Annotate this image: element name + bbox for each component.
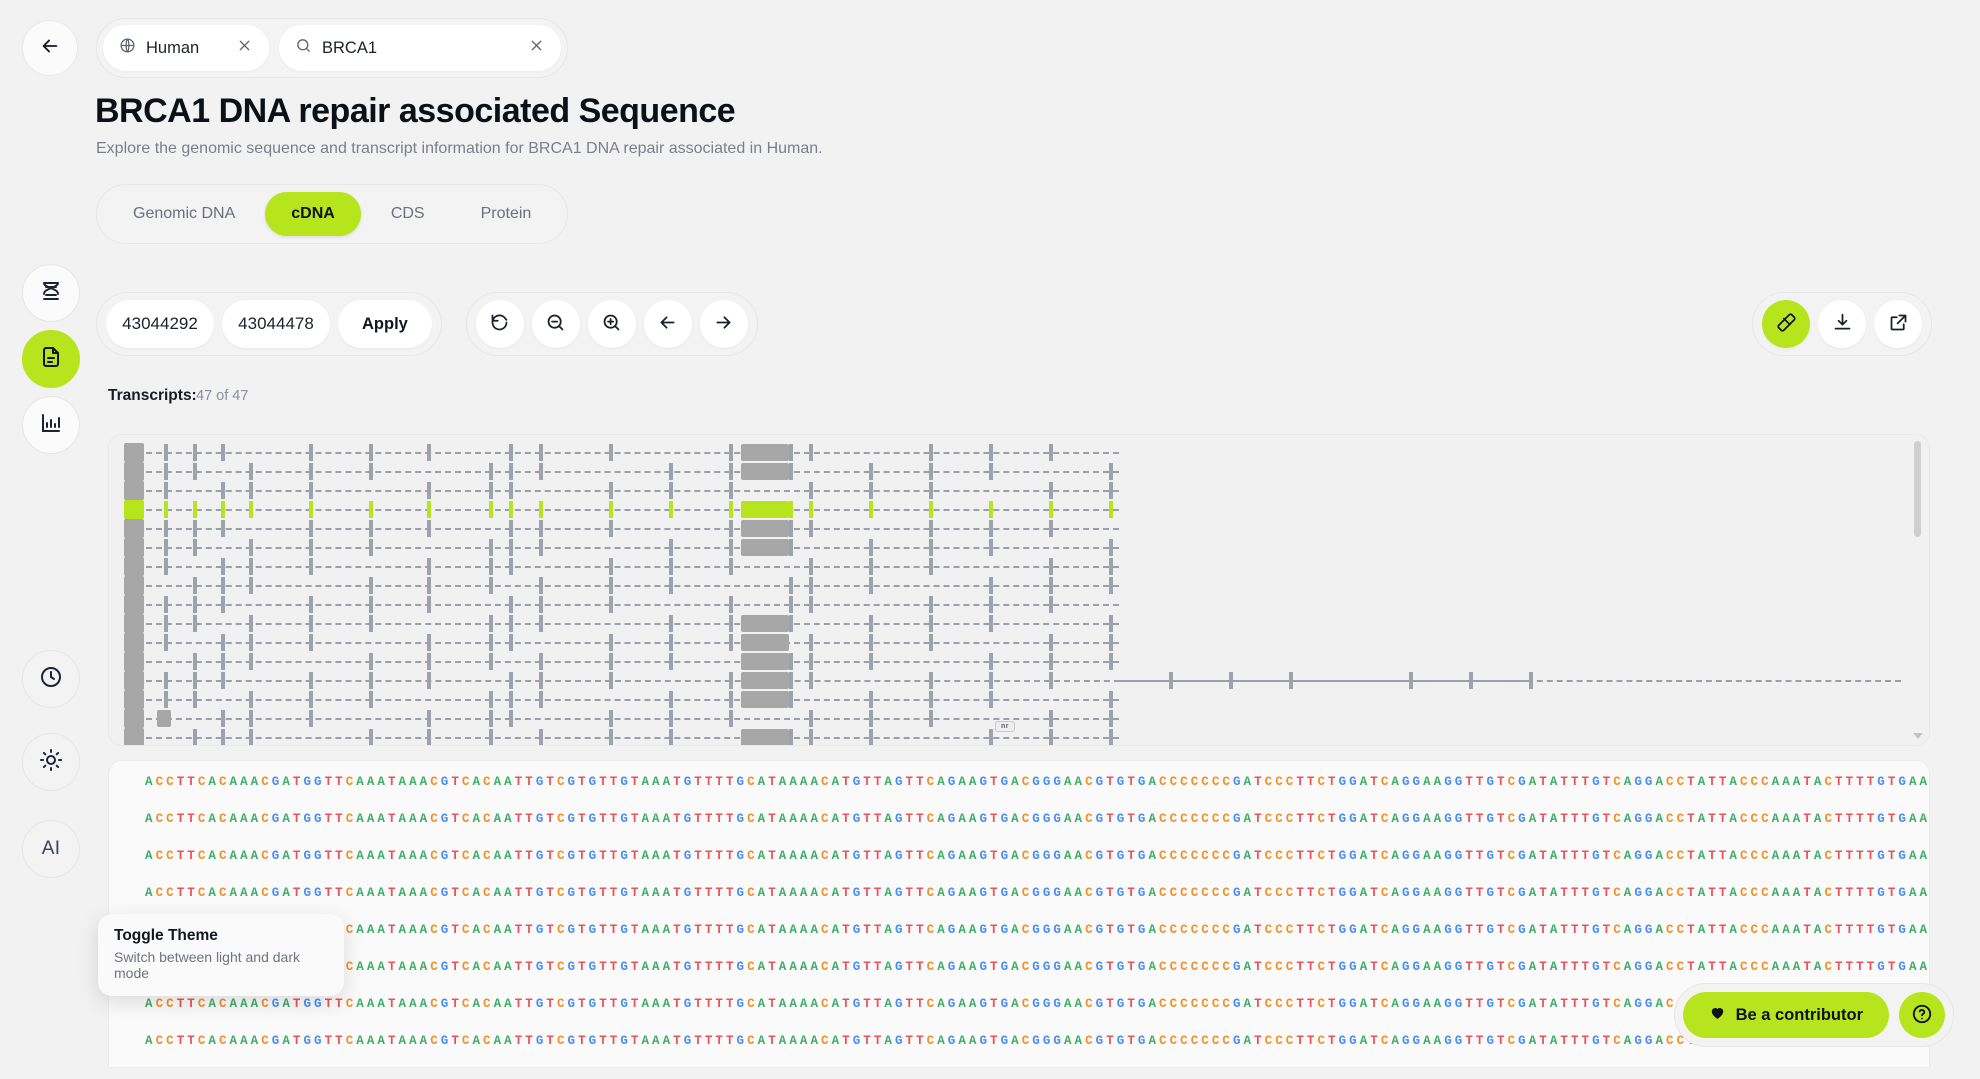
transcript-start-block xyxy=(124,443,144,462)
exon-marker xyxy=(929,444,933,461)
exon-marker xyxy=(789,672,793,689)
exon-block xyxy=(741,691,789,708)
exon-marker xyxy=(164,691,168,708)
document-icon xyxy=(39,345,63,374)
exon-marker xyxy=(164,634,168,651)
exon-marker xyxy=(609,520,613,537)
exon-marker xyxy=(489,691,493,708)
exon-marker xyxy=(609,672,613,689)
exon-marker xyxy=(789,463,793,480)
exon-marker xyxy=(427,634,431,651)
apply-button[interactable]: Apply xyxy=(338,300,432,348)
exon-marker xyxy=(489,634,493,651)
exon-marker xyxy=(669,539,673,556)
exon-marker xyxy=(221,482,225,499)
sidebar-item-history[interactable] xyxy=(22,650,80,708)
exon-marker xyxy=(509,444,513,461)
exon-marker xyxy=(369,672,373,689)
exon-marker xyxy=(369,463,373,480)
tab-protein[interactable]: Protein xyxy=(455,192,558,236)
exon-marker xyxy=(539,653,543,670)
pan-right-button[interactable] xyxy=(700,300,748,348)
page-title: BRCA1 DNA repair associated Sequence xyxy=(95,92,735,131)
exon-marker xyxy=(164,596,168,613)
transcript-start-block xyxy=(124,519,144,538)
exon-marker xyxy=(509,501,513,518)
exon-marker xyxy=(809,444,813,461)
intron-line xyxy=(146,547,1119,549)
exon-marker xyxy=(869,653,873,670)
transcript-row[interactable] xyxy=(109,462,1929,481)
exon-marker xyxy=(164,463,168,480)
exon-marker xyxy=(249,653,253,670)
exon-marker xyxy=(249,634,253,651)
exon-marker xyxy=(309,634,313,651)
exon-marker xyxy=(869,577,873,594)
exon-marker xyxy=(249,710,253,727)
intron-line xyxy=(146,699,1119,701)
species-chip[interactable]: Human xyxy=(103,25,269,71)
exon-marker xyxy=(1109,558,1113,575)
exon-marker xyxy=(869,501,873,518)
exon-marker xyxy=(249,501,253,518)
exon-marker xyxy=(869,729,873,746)
transcript-row[interactable] xyxy=(109,614,1929,633)
exon-marker xyxy=(249,615,253,632)
exon-marker xyxy=(669,634,673,651)
exon-marker xyxy=(369,691,373,708)
exon-marker xyxy=(309,539,313,556)
exon-marker xyxy=(539,672,543,689)
exon-marker xyxy=(869,634,873,651)
exon-marker xyxy=(427,596,431,613)
exon-marker xyxy=(809,501,813,518)
exon-marker xyxy=(193,653,197,670)
help-button[interactable] xyxy=(1899,992,1945,1038)
exon-marker xyxy=(669,482,673,499)
exon-marker xyxy=(427,482,431,499)
exon-marker xyxy=(164,539,168,556)
exon-marker xyxy=(1109,615,1113,632)
top-search-bar: Human BRCA1 xyxy=(22,18,568,78)
exon-marker xyxy=(249,691,253,708)
search-input-value: BRCA1 xyxy=(322,39,518,58)
exon-marker xyxy=(869,482,873,499)
exon-marker xyxy=(193,672,197,689)
intron-line xyxy=(146,585,1119,587)
ai-label: AI xyxy=(42,838,61,860)
exon-marker xyxy=(309,596,313,613)
exon-marker xyxy=(193,691,197,708)
transcript-start-block xyxy=(124,671,144,690)
exon-marker xyxy=(539,501,543,518)
zoom-in-icon xyxy=(601,312,622,336)
exon-marker xyxy=(193,615,197,632)
exon-marker xyxy=(539,596,543,613)
sequence-row: ACCTTCACAAACGATGGTTCAAATAAACGTCACAATTGTC… xyxy=(145,1034,1930,1048)
open-external-button[interactable] xyxy=(1874,300,1922,348)
transcript-start-block xyxy=(124,576,144,595)
exon-marker xyxy=(427,710,431,727)
viewer-controls: Apply xyxy=(96,292,758,356)
exon-marker xyxy=(869,710,873,727)
exon-marker xyxy=(369,539,373,556)
contributor-button[interactable]: Be a contributor xyxy=(1683,992,1889,1038)
exon-marker xyxy=(989,729,993,746)
exon-marker xyxy=(1109,710,1113,727)
exon-marker xyxy=(249,577,253,594)
exon-marker xyxy=(509,615,513,632)
gene-search-field[interactable]: BRCA1 xyxy=(279,25,561,71)
exon-marker xyxy=(489,710,493,727)
exon-marker xyxy=(509,596,513,613)
exon-marker xyxy=(1109,729,1113,746)
exon-marker xyxy=(989,653,993,670)
exon-marker xyxy=(989,577,993,594)
exon-marker xyxy=(539,444,543,461)
tab-cdna[interactable]: cDNA xyxy=(265,192,361,236)
exon-marker xyxy=(489,482,493,499)
exon-block xyxy=(741,463,789,480)
exon-marker xyxy=(489,577,493,594)
exon-marker xyxy=(249,729,253,746)
transcript-row[interactable] xyxy=(109,443,1929,462)
transcript-row[interactable] xyxy=(109,595,1929,614)
exon-marker xyxy=(369,501,373,518)
exon-marker xyxy=(929,672,933,689)
track-mini-badge: nr xyxy=(995,721,1015,732)
exon-block xyxy=(741,653,789,670)
sidebar-item-analytics[interactable] xyxy=(22,396,80,454)
exon-marker xyxy=(929,634,933,651)
exon-marker xyxy=(1049,520,1053,537)
exon-marker xyxy=(729,615,733,632)
exon-block xyxy=(741,539,789,556)
page-subtitle: Explore the genomic sequence and transcr… xyxy=(96,140,823,158)
exon-marker xyxy=(789,596,793,613)
exon-marker xyxy=(1049,672,1053,689)
sidebar-item-theme[interactable] xyxy=(22,733,80,791)
exon-marker xyxy=(509,672,513,689)
exon-marker xyxy=(729,444,733,461)
exon-marker xyxy=(164,558,168,575)
transcript-start-block xyxy=(124,614,144,633)
transcript-rows xyxy=(109,435,1929,745)
exon-marker xyxy=(669,710,673,727)
exon-marker xyxy=(989,672,993,689)
exon-marker xyxy=(1109,501,1113,518)
exon-marker xyxy=(427,653,431,670)
exon-marker xyxy=(369,520,373,537)
exon-marker xyxy=(669,653,673,670)
transcripts-label: Transcripts: xyxy=(108,387,197,405)
sun-icon xyxy=(39,748,63,777)
transcript-start-block xyxy=(124,652,144,671)
search-group: Human BRCA1 xyxy=(96,18,568,78)
transcript-row[interactable] xyxy=(109,557,1929,576)
zoom-out-icon xyxy=(545,312,566,336)
transcript-start-block xyxy=(124,633,144,652)
transcript-row[interactable] xyxy=(109,709,1929,728)
exon-marker xyxy=(989,444,993,461)
exon-marker xyxy=(427,729,431,746)
exon-marker xyxy=(1109,463,1113,480)
exon-marker xyxy=(929,501,933,518)
exon-marker xyxy=(249,463,253,480)
exon-marker xyxy=(1049,482,1053,499)
exon-marker xyxy=(989,691,993,708)
exon-marker xyxy=(669,729,673,746)
scroll-down-arrow-icon[interactable] xyxy=(1913,733,1923,739)
exon-marker xyxy=(193,463,197,480)
exon-marker xyxy=(729,520,733,537)
exon-marker xyxy=(309,463,313,480)
exon-marker xyxy=(789,520,793,537)
exon-marker xyxy=(309,558,313,575)
exon-marker xyxy=(789,729,793,746)
zoom-out-button[interactable] xyxy=(532,300,580,348)
sidebar-item-sequence[interactable] xyxy=(22,330,80,388)
transcript-row[interactable] xyxy=(109,538,1929,557)
intron-line xyxy=(146,642,1119,644)
exon-marker xyxy=(609,482,613,499)
sidebar-item-ai[interactable]: AI xyxy=(22,820,80,878)
sidebar-item-dna[interactable] xyxy=(22,264,80,322)
sequence-row: ACCTTCACAAACGATGGTTCAAATAAACGTCACAATTGTC… xyxy=(145,886,1930,900)
transcript-row[interactable] xyxy=(109,576,1929,595)
exon-marker xyxy=(193,596,197,613)
exon-marker xyxy=(509,558,513,575)
exon-block xyxy=(741,729,789,746)
exon-marker xyxy=(1109,691,1113,708)
exon-marker xyxy=(669,463,673,480)
transcript-row[interactable] xyxy=(109,481,1929,500)
exon-marker xyxy=(1049,710,1053,727)
exon-block xyxy=(741,444,789,461)
exon-marker xyxy=(309,501,313,518)
transcript-start-block xyxy=(124,595,144,614)
exon-marker xyxy=(809,653,813,670)
exon-marker xyxy=(789,615,793,632)
exon-marker xyxy=(789,539,793,556)
sequence-row: ACCTTCACAAACGATGGTTCAAATAAACGTCACAATTGTC… xyxy=(145,812,1930,826)
exon-marker xyxy=(809,672,813,689)
exon-marker xyxy=(221,444,225,461)
question-circle-icon xyxy=(1911,1003,1933,1028)
exon-marker xyxy=(729,596,733,613)
exon-marker xyxy=(729,463,733,480)
exon-marker xyxy=(869,558,873,575)
exon-marker xyxy=(609,577,613,594)
exon-marker xyxy=(1049,634,1053,651)
clear-species-icon[interactable] xyxy=(236,37,253,59)
exon-marker xyxy=(809,520,813,537)
contributor-label: Be a contributor xyxy=(1736,1006,1863,1025)
exon-marker xyxy=(989,539,993,556)
exon-marker xyxy=(193,539,197,556)
tooltip-title: Toggle Theme xyxy=(114,927,328,945)
sequence-row: ACCTTCACAAACGATGGTTCAAATAAACGTCACAATTGTC… xyxy=(145,775,1930,789)
exon-marker xyxy=(669,558,673,575)
bar-chart-icon xyxy=(39,411,63,440)
exon-marker xyxy=(309,615,313,632)
zoom-in-button[interactable] xyxy=(588,300,636,348)
exon-marker xyxy=(539,463,543,480)
transcript-row[interactable] xyxy=(109,633,1929,652)
exon-marker xyxy=(193,501,197,518)
exon-marker xyxy=(164,444,168,461)
exon-marker xyxy=(989,596,993,613)
exon-marker xyxy=(193,577,197,594)
exon-marker xyxy=(1049,444,1053,461)
exon-marker xyxy=(809,577,813,594)
transcript-row[interactable] xyxy=(109,690,1929,709)
exon-marker xyxy=(609,729,613,746)
left-rail: AI xyxy=(22,0,102,1079)
exon-marker xyxy=(1109,539,1113,556)
exon-marker xyxy=(309,710,313,727)
exon-marker xyxy=(221,672,225,689)
range-end-input[interactable] xyxy=(222,300,330,348)
exon-marker xyxy=(669,691,673,708)
tab-genomic-dna[interactable]: Genomic DNA xyxy=(107,192,261,236)
exon-marker xyxy=(989,501,993,518)
exon-marker xyxy=(989,520,993,537)
exon-marker xyxy=(539,615,543,632)
tab-cds[interactable]: CDS xyxy=(365,192,451,236)
exon-marker xyxy=(539,577,543,594)
exon-block xyxy=(741,634,789,651)
exon-marker xyxy=(164,672,168,689)
exon-marker xyxy=(309,482,313,499)
transcript-row[interactable] xyxy=(109,728,1929,746)
exon-marker xyxy=(539,691,543,708)
exon-marker xyxy=(221,729,225,746)
range-start-input[interactable] xyxy=(106,300,214,348)
download-button[interactable] xyxy=(1818,300,1866,348)
intron-line xyxy=(146,718,1119,720)
exon-marker xyxy=(1109,482,1113,499)
exon-marker xyxy=(609,558,613,575)
exon-marker xyxy=(609,444,613,461)
exon-marker xyxy=(539,539,543,556)
exon-marker xyxy=(489,653,493,670)
exon-marker xyxy=(489,463,493,480)
exon-marker xyxy=(789,653,793,670)
exon-marker xyxy=(1049,653,1053,670)
clock-icon xyxy=(39,665,63,694)
exon-marker xyxy=(509,463,513,480)
intron-line xyxy=(146,509,1119,511)
intron-line xyxy=(146,623,1119,625)
exon-marker xyxy=(369,615,373,632)
range-controls: Apply xyxy=(96,292,442,356)
intron-line xyxy=(146,490,1119,492)
exon-marker xyxy=(729,634,733,651)
exon-marker xyxy=(1049,729,1053,746)
back-button[interactable] xyxy=(22,20,78,76)
exon-marker xyxy=(193,520,197,537)
footer-actions: Be a contributor xyxy=(1674,983,1954,1047)
reset-icon xyxy=(489,312,510,336)
viewer-actions xyxy=(1752,292,1932,356)
exon-marker xyxy=(309,444,313,461)
exon-marker xyxy=(809,558,813,575)
exon-marker xyxy=(729,710,733,727)
sequence-row: ACCTTCACAAACGATGGTTCAAATAAACGTCACAATTGTC… xyxy=(145,960,1930,974)
exon-marker xyxy=(729,482,733,499)
external-link-icon xyxy=(1888,312,1909,336)
exon-marker xyxy=(164,482,168,499)
exon-marker xyxy=(929,691,933,708)
exon-marker xyxy=(809,596,813,613)
exon-marker xyxy=(989,463,993,480)
transcript-row[interactable] xyxy=(109,519,1929,538)
intron-line xyxy=(146,604,1119,606)
sequence-type-tabs: Genomic DNA cDNA CDS Protein xyxy=(96,184,568,244)
transcript-row[interactable] xyxy=(109,500,1929,519)
exon-block xyxy=(741,615,789,632)
track-scrollbar[interactable] xyxy=(1914,441,1921,741)
intron-line-extended xyxy=(1119,680,1901,682)
exon-block xyxy=(157,710,171,727)
sequence-row: ACCTTCACAAACGATGGTTCAAATAAACGTCACAATTGTC… xyxy=(145,849,1930,863)
reset-button[interactable] xyxy=(476,300,524,348)
exon-marker xyxy=(609,634,613,651)
exon-marker xyxy=(929,710,933,727)
exon-marker xyxy=(729,558,733,575)
track-scrollbar-thumb[interactable] xyxy=(1914,441,1921,537)
exon-marker xyxy=(221,634,225,651)
pan-left-button[interactable] xyxy=(644,300,692,348)
sequence-panel[interactable]: ACCTTCACAAACGATGGTTCAAATAAACGTCACAATTGTC… xyxy=(108,760,1930,1068)
exon-marker xyxy=(1109,634,1113,651)
ruler-button[interactable] xyxy=(1762,300,1810,348)
exon-block xyxy=(741,672,789,689)
transcript-row[interactable] xyxy=(109,652,1929,671)
exon-marker xyxy=(369,444,373,461)
exon-marker xyxy=(489,501,493,518)
exon-marker xyxy=(539,729,543,746)
tooltip-description: Switch between light and dark mode xyxy=(114,949,328,981)
exon-marker xyxy=(164,520,168,537)
exon-marker xyxy=(309,691,313,708)
exon-marker xyxy=(369,653,373,670)
sequence-row: ACCTTCACAAACGATGGTTCAAATAAACGTCACAATTGTC… xyxy=(145,997,1930,1011)
exon-marker xyxy=(427,672,431,689)
clear-search-icon[interactable] xyxy=(528,37,545,59)
exon-marker xyxy=(1109,653,1113,670)
species-label: Human xyxy=(146,39,226,58)
transcript-track-panel[interactable]: nr xyxy=(108,434,1930,746)
intron-line xyxy=(146,566,1119,568)
ruler-icon xyxy=(1776,312,1797,336)
dna-icon xyxy=(39,279,63,308)
exon-marker xyxy=(929,520,933,537)
app-root: AI Human xyxy=(0,0,1980,1079)
transcript-start-block xyxy=(124,557,144,576)
heart-icon xyxy=(1709,1004,1726,1026)
exon-marker xyxy=(609,710,613,727)
exon-marker xyxy=(929,482,933,499)
exon-marker xyxy=(869,463,873,480)
exon-marker xyxy=(221,501,225,518)
exon-marker xyxy=(509,634,513,651)
exon-marker xyxy=(729,501,733,518)
exon-marker xyxy=(669,577,673,594)
exon-marker xyxy=(249,558,253,575)
exon-marker xyxy=(369,596,373,613)
